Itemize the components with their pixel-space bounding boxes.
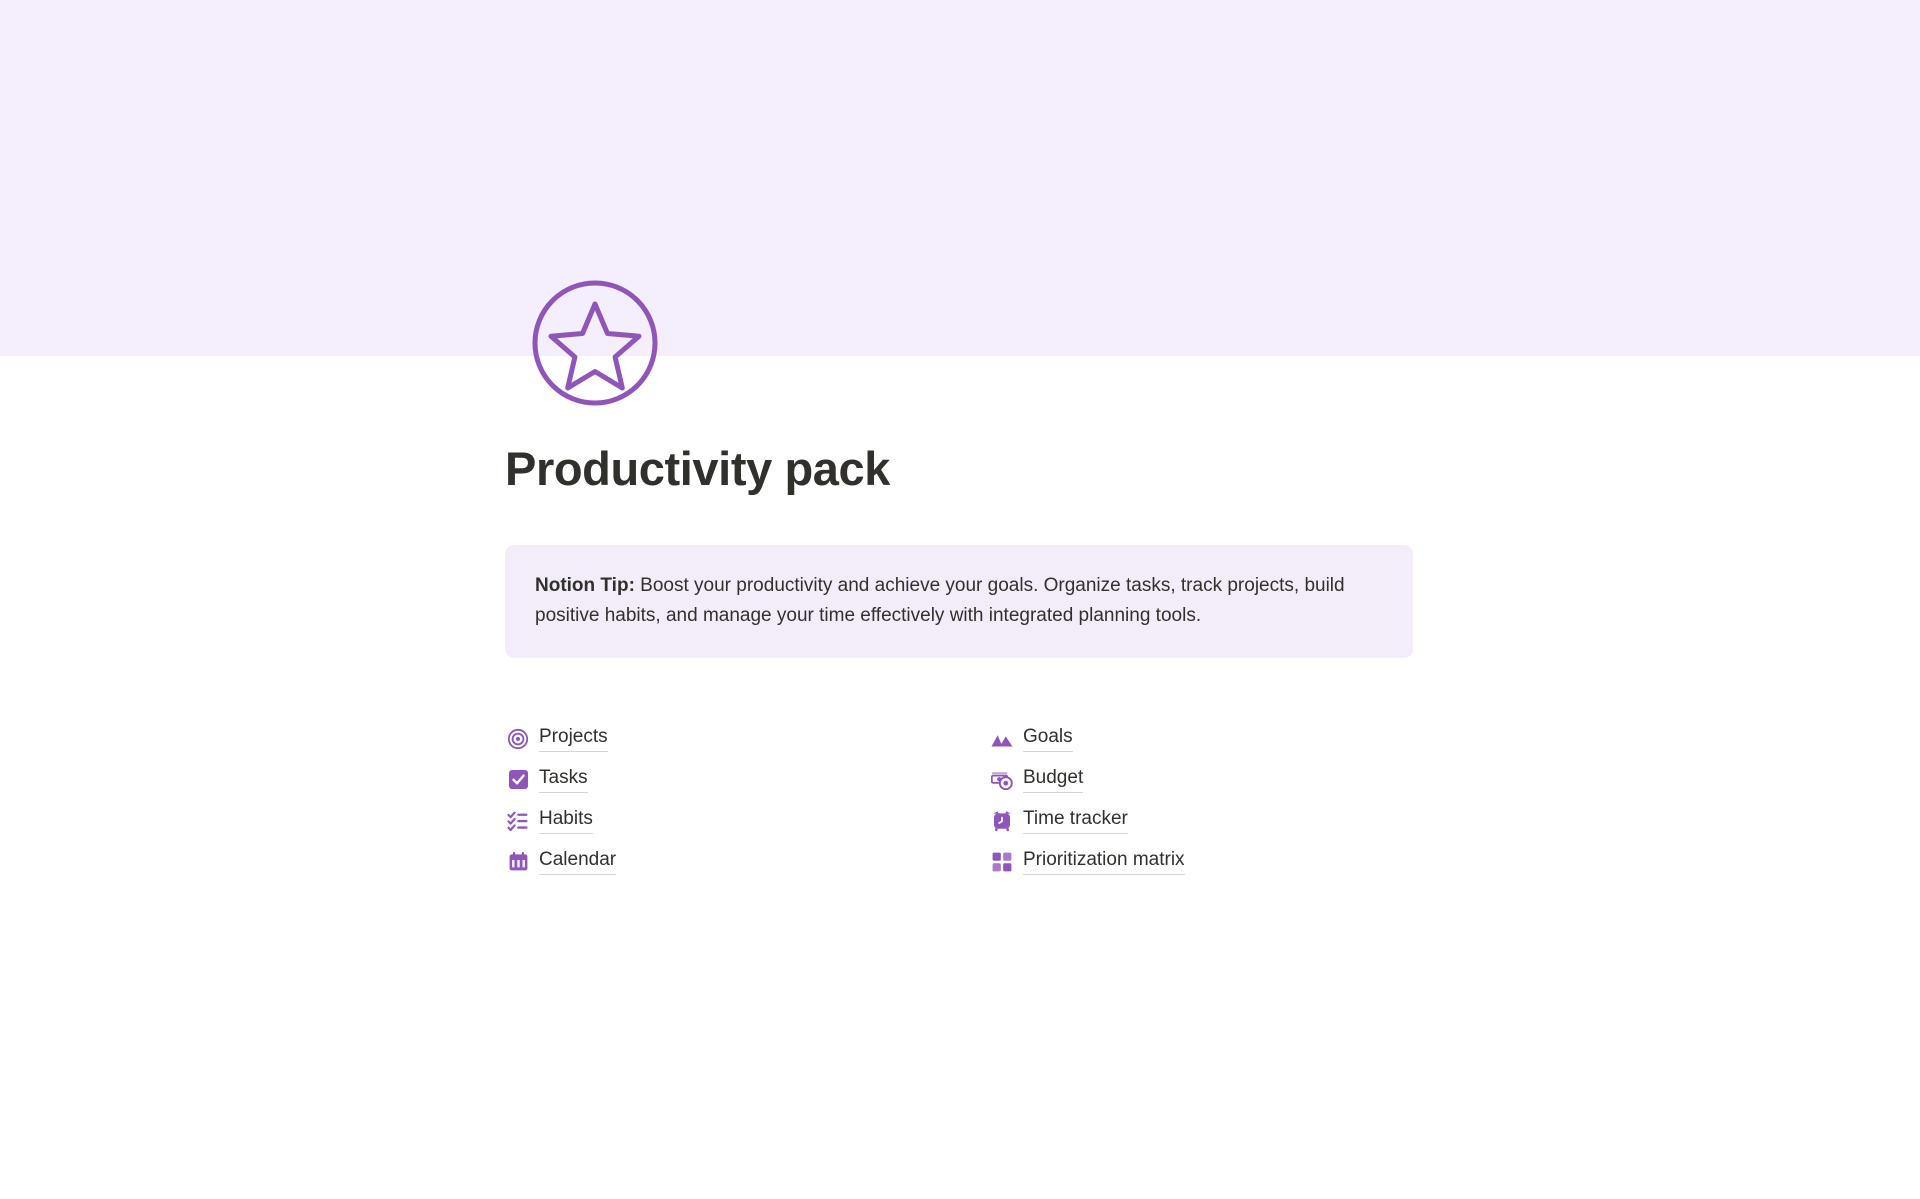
target-icon xyxy=(505,726,531,752)
alarm-clock-icon xyxy=(989,808,1015,834)
page-content: Productivity pack Notion Tip: Boost your… xyxy=(505,440,1415,882)
callout-text: Notion Tip: Boost your productivity and … xyxy=(535,571,1383,631)
link-columns: Projects Tasks xyxy=(505,718,1413,882)
page-icon[interactable] xyxy=(525,273,665,413)
link-column-right: Goals Budget xyxy=(989,718,1413,882)
link-column-left: Projects Tasks xyxy=(505,718,989,882)
page-link-label: Projects xyxy=(539,725,608,752)
page-link-label: Habits xyxy=(539,807,593,834)
page-link-label: Time tracker xyxy=(1023,807,1128,834)
page-link-time-tracker[interactable]: Time tracker xyxy=(989,800,1413,841)
callout-body: Boost your productivity and achieve your… xyxy=(535,575,1345,626)
grid-2x2-icon xyxy=(989,849,1015,875)
page-title: Productivity pack xyxy=(505,440,1415,498)
page-link-goals[interactable]: Goals xyxy=(989,718,1413,759)
callout-label: Notion Tip: xyxy=(535,575,635,596)
checklist-icon xyxy=(505,808,531,834)
callout-block: Notion Tip: Boost your productivity and … xyxy=(505,545,1413,658)
page-link-tasks[interactable]: Tasks xyxy=(505,759,989,800)
checkbox-checked-icon xyxy=(505,767,531,793)
mountains-icon xyxy=(989,726,1015,752)
page-link-label: Goals xyxy=(1023,725,1073,752)
page-link-label: Tasks xyxy=(539,766,588,793)
page-link-label: Prioritization matrix xyxy=(1023,848,1185,875)
page-link-calendar[interactable]: Calendar xyxy=(505,841,989,882)
cover-banner xyxy=(0,0,1920,356)
page-link-habits[interactable]: Habits xyxy=(505,800,989,841)
calendar-icon xyxy=(505,849,531,875)
page-link-prioritization-matrix[interactable]: Prioritization matrix xyxy=(989,841,1413,882)
page-link-label: Calendar xyxy=(539,848,616,875)
page-link-budget[interactable]: Budget xyxy=(989,759,1413,800)
money-icon xyxy=(989,767,1015,793)
page-link-label: Budget xyxy=(1023,766,1083,793)
star-in-circle-icon xyxy=(525,273,665,413)
page-link-projects[interactable]: Projects xyxy=(505,718,989,759)
